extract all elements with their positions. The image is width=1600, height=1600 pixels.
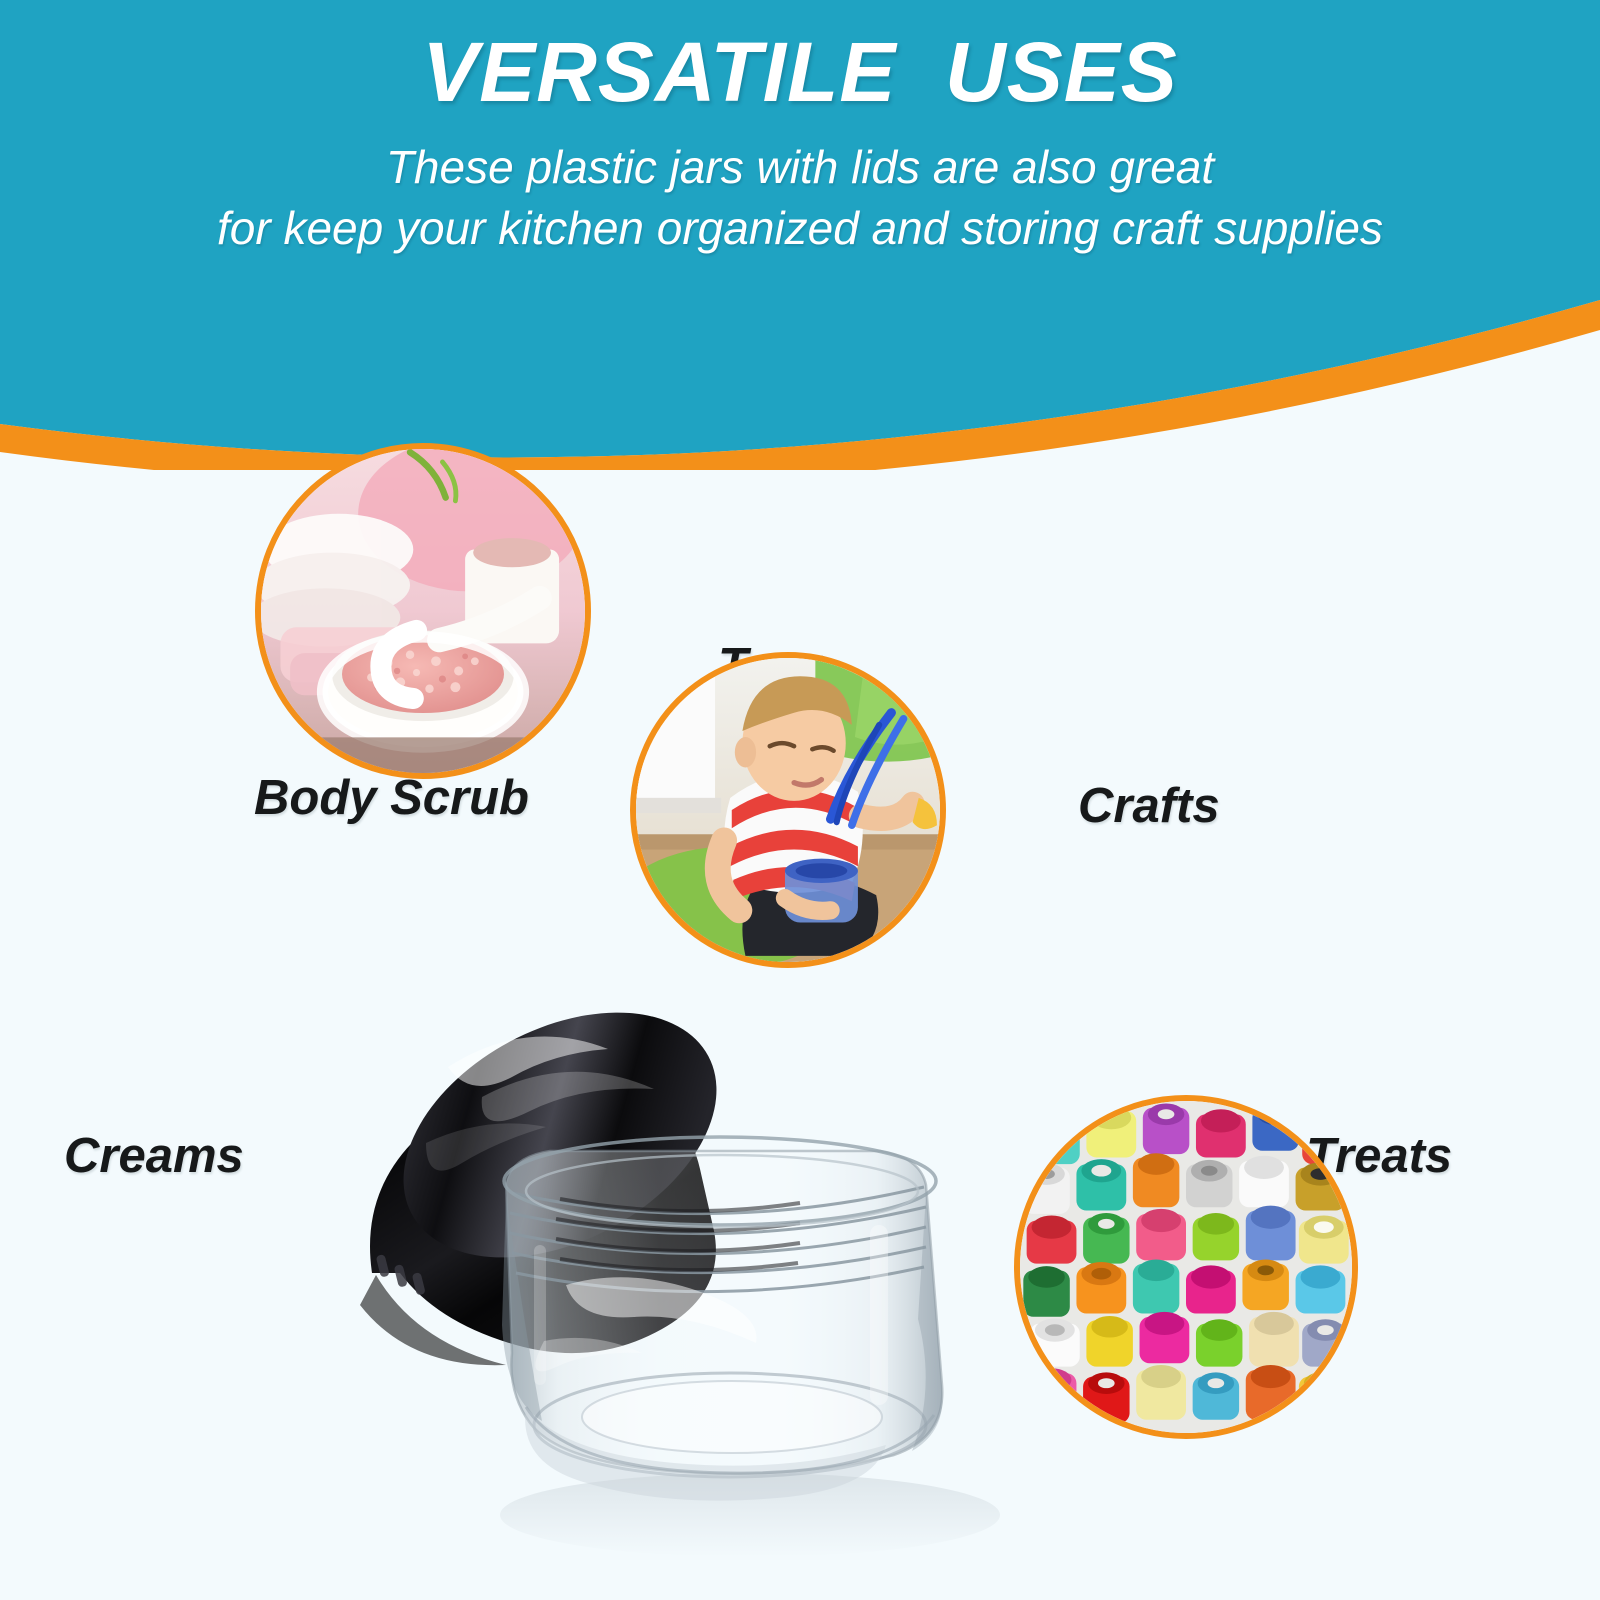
feature-label-creams: Creams [64, 1128, 244, 1184]
infographic-canvas: VERSATILE USES These plastic jars with l… [0, 0, 1600, 1600]
crafts-illustration [1020, 1101, 1352, 1433]
feature-image-crafts [1014, 1095, 1358, 1439]
jar-body [502, 1137, 942, 1501]
feature-label-crafts: Crafts [1078, 778, 1220, 834]
feature-image-body-scrub [255, 443, 591, 779]
body-scrub-illustration [261, 449, 585, 773]
toys-illustration [636, 658, 940, 962]
feature-image-toys [630, 652, 946, 968]
header-banner [0, 0, 1600, 470]
feature-label-body-scrub: Body Scrub [254, 770, 529, 826]
